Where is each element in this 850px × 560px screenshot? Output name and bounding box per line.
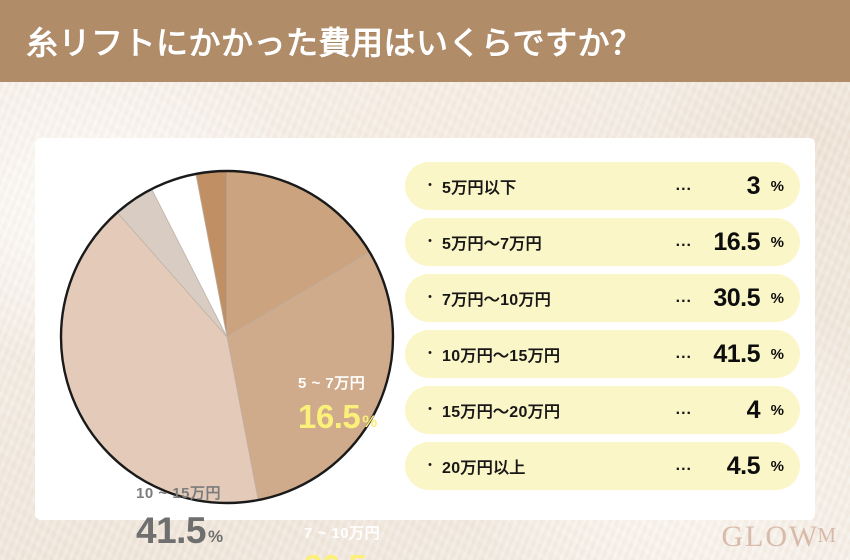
legend-value: 16.5 — [698, 228, 760, 257]
legend-row: ・10万円〜15万円...41.5% — [405, 330, 800, 378]
legend-dots: ... — [676, 345, 698, 363]
legend-dots: ... — [676, 177, 698, 195]
pie-chart: 5 ~ 7万円 16.5% 7 ~ 10万円 30.5% 10 ~ 15万円 4… — [58, 168, 396, 506]
legend-unit: % — [760, 178, 784, 195]
legend-unit: % — [760, 234, 784, 251]
brand-logo-mark: M — [817, 523, 834, 548]
legend-list: ・5万円以下...3%・5万円〜7万円...16.5%・7万円〜10万円...3… — [405, 162, 800, 490]
legend-dots: ... — [676, 457, 698, 475]
legend-value: 4 — [698, 396, 760, 425]
brand-logo: GLOW M — [721, 520, 834, 554]
legend-unit: % — [760, 458, 784, 475]
pie-slices — [61, 171, 393, 503]
legend-label: 15万円〜20万円 — [442, 398, 560, 422]
legend-row: ・20万円以上...4.5% — [405, 442, 800, 490]
legend-row: ・15万円〜20万円...4% — [405, 386, 800, 434]
legend-unit: % — [760, 346, 784, 363]
legend-unit: % — [760, 402, 784, 419]
page-title: 糸リフトにかかった費用はいくらですか？ — [0, 18, 643, 64]
legend-bullet-icon: ・ — [423, 290, 437, 304]
legend-dots: ... — [676, 401, 698, 419]
legend-label: 5万円〜7万円 — [442, 230, 542, 254]
legend-row: ・5万円以下...3% — [405, 162, 800, 210]
legend-row: ・7万円〜10万円...30.5% — [405, 274, 800, 322]
legend-bullet-icon: ・ — [423, 402, 437, 416]
legend-value: 4.5 — [698, 452, 760, 481]
brand-logo-text: GLOW — [721, 520, 819, 554]
header-bar: 糸リフトにかかった費用はいくらですか？ — [0, 0, 850, 82]
legend-value: 3 — [698, 172, 760, 201]
pie-chart-svg — [58, 168, 396, 506]
legend-label: 20万円以上 — [442, 454, 526, 478]
legend-bullet-icon: ・ — [423, 458, 437, 472]
legend-label: 10万円〜15万円 — [442, 342, 560, 366]
legend-label: 5万円以下 — [442, 174, 516, 198]
legend-dots: ... — [676, 233, 698, 251]
legend-row: ・5万円〜7万円...16.5% — [405, 218, 800, 266]
legend-bullet-icon: ・ — [423, 346, 437, 360]
legend-unit: % — [760, 290, 784, 307]
legend-value: 41.5 — [698, 340, 760, 369]
legend-label: 7万円〜10万円 — [442, 286, 551, 310]
legend-bullet-icon: ・ — [423, 178, 437, 192]
legend-value: 30.5 — [698, 284, 760, 313]
legend-bullet-icon: ・ — [423, 234, 437, 248]
legend-dots: ... — [676, 289, 698, 307]
